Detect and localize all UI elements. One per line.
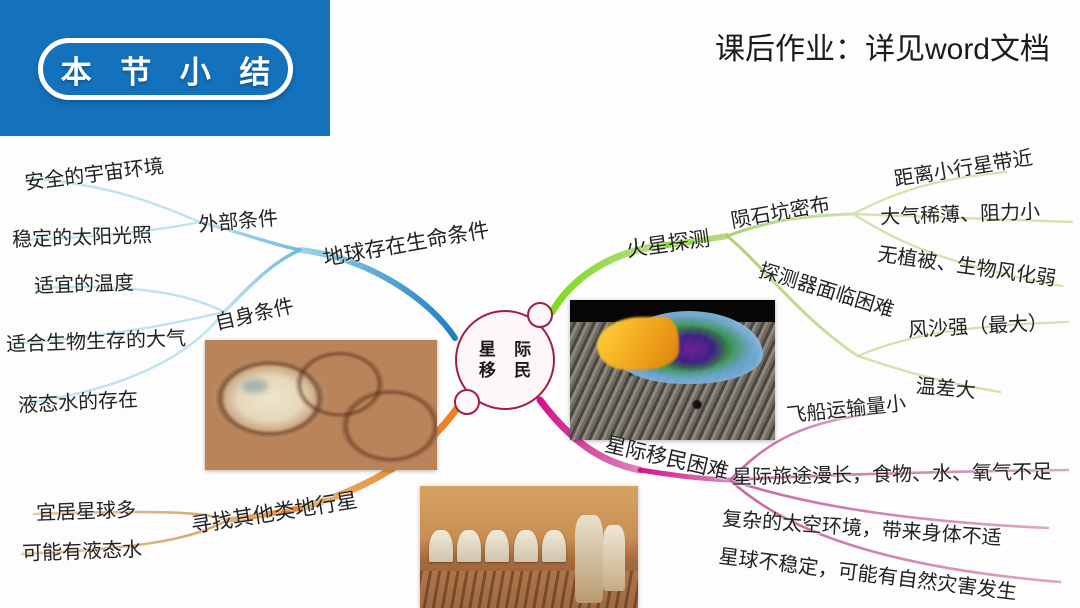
habitat-module [485,530,509,562]
node-large-temperature-range[interactable]: 温差大 [915,369,977,403]
dome-habitat-photo [570,300,775,440]
center-node-label: 星 际 移 民 [472,339,538,382]
astronaut-figure [603,525,625,591]
mindmap-slide: 本 节 小 结 课后作业：详见word文档 [0,0,1080,608]
mars-craters-photo [205,340,437,470]
node-maybe-liquid-water[interactable]: 可能有液态水 [22,533,143,566]
dome-sun-flare [597,317,679,370]
mars-colony-photo [420,486,638,608]
node-thin-atmosphere-low-drag[interactable]: 大气稀薄、阻力小 [880,195,1041,230]
habitat-module [542,530,566,562]
center-connector-dot-top [527,302,553,328]
center-connector-dot-bottom [454,389,480,415]
astronaut-figure [575,515,603,603]
habitat-module [457,530,481,562]
habitat-module [514,530,538,562]
node-stable-sunlight[interactable]: 稳定的太阳光照 [12,219,153,253]
node-suitable-temperature[interactable]: 适宜的温度 [34,266,135,298]
crater-blue-patch [242,379,268,393]
node-many-habitable-planets[interactable]: 宜居星球多 [36,493,137,525]
node-long-journey-supplies-insufficient[interactable]: 星际旅途漫长，食物、水、氧气不足 [732,455,1052,490]
habitat-module [429,530,453,562]
crater-rim-shading [205,340,437,470]
